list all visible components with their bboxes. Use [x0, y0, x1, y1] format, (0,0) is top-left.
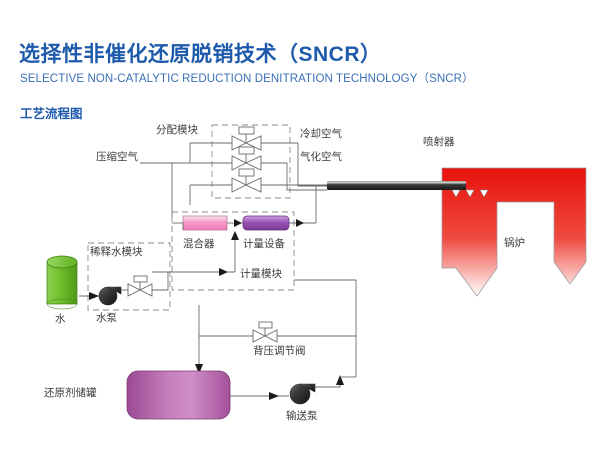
dilution-water-module-label: 稀释水模块 [90, 245, 143, 258]
water-pump-group: 水泵 [79, 287, 121, 324]
water-tank-group: 水 [47, 256, 77, 325]
air-routing-group: 冷却空气 气化空气 [287, 127, 342, 190]
metering-equipment-label: 计量设备 [243, 237, 285, 250]
back-pressure-valve-group: 背压调节阀 [195, 305, 356, 374]
water-label: 水 [55, 313, 66, 325]
distribution-module-group: 分配模块 [96, 124, 327, 218]
back-pressure-valve-label: 背压调节阀 [253, 344, 306, 357]
mixer-shape [183, 216, 227, 230]
cooling-air-label: 冷却空气 [300, 127, 342, 140]
water-tank-top [47, 256, 77, 268]
boiler-label: 锅炉 [504, 237, 525, 249]
cooling-air-pipe [298, 143, 327, 186]
injector-label: 喷射器 [423, 135, 455, 148]
valve-reagent-line [190, 169, 327, 192]
mixer-label: 混合器 [183, 237, 215, 250]
valve-gasification-air [172, 147, 287, 170]
reductant-tank-group: 还原剂储罐 [44, 371, 289, 419]
dilution-water-module-group: 稀释水模块 水 水泵 [47, 243, 170, 325]
water-pump-label: 水泵 [96, 312, 117, 324]
slide-root: 选择性非催化还原脱销技术（SNCR） SELECTIVE NON-CATALYT… [0, 0, 600, 450]
dilution-water-pipe [152, 272, 168, 290]
reductant-tank-shape [127, 371, 230, 419]
discharge-pipe [315, 377, 340, 387]
reductant-tank-label: 还原剂储罐 [44, 386, 97, 399]
distribution-module-label: 分配模块 [156, 124, 198, 136]
injector-lance-group: 喷射器 [327, 135, 488, 197]
metering-module-group: 混合器 计量设备 计量模块 [152, 185, 316, 290]
reagent-riser-pipe [294, 280, 356, 377]
compressed-air-label: 压缩空气 [96, 150, 138, 163]
gasification-air-label: 气化空气 [300, 150, 342, 163]
metering-device-shape [243, 216, 289, 230]
process-flow-diagram: 锅炉 喷射器 分配模块 [0, 0, 600, 450]
delivery-pump-label: 输送泵 [286, 409, 318, 422]
metering-module-label: 计量模块 [240, 267, 282, 280]
injector-lance [327, 181, 466, 190]
valve-dilution-water [121, 272, 168, 296]
